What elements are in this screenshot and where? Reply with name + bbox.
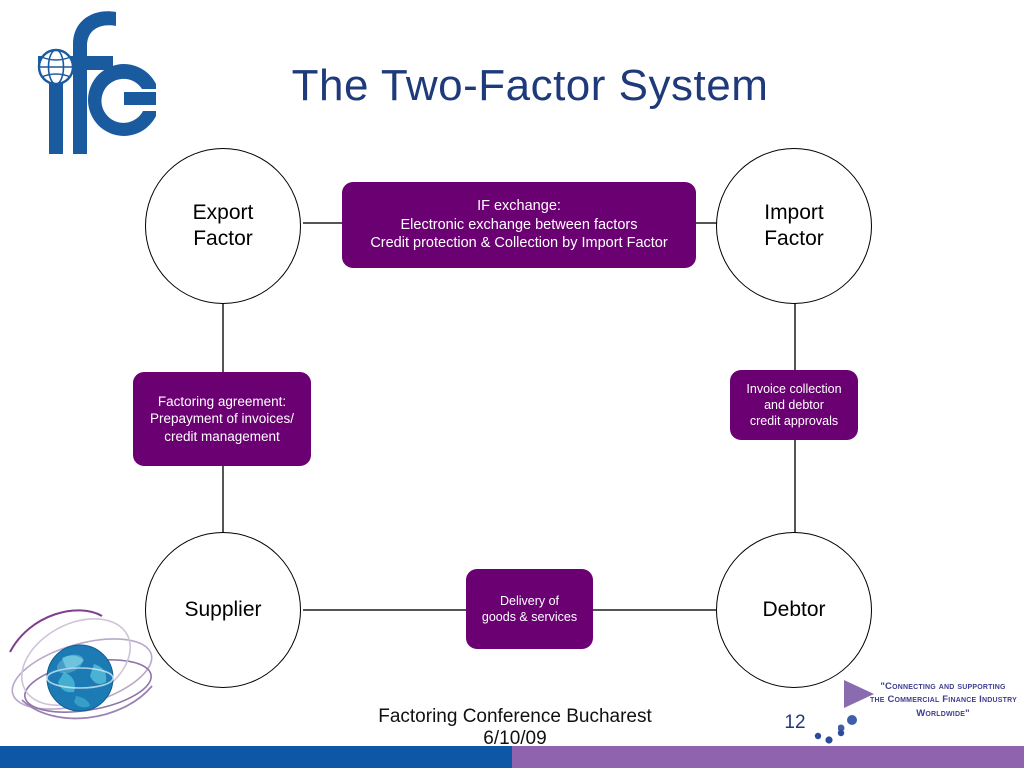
connector-import-to-invoice	[794, 300, 796, 370]
box-factoring-agreement-line1: Factoring agreement:	[150, 393, 294, 410]
presentation-slide: The Two-Factor System Export Factor Impo…	[0, 0, 1024, 768]
box-invoice-collection-line2: and debtor	[746, 397, 841, 413]
footer-line-1: Factoring Conference Bucharest	[300, 706, 730, 728]
connector-export-to-ifexchange	[303, 222, 345, 224]
box-delivery-line1: Delivery of	[482, 593, 577, 609]
footer: Factoring Conference Bucharest 6/10/09	[300, 706, 730, 751]
page-title: The Two-Factor System	[180, 62, 880, 110]
box-factoring-agreement-line2: Prepayment of invoices/	[150, 410, 294, 427]
node-export-factor[interactable]: Export Factor	[145, 148, 301, 304]
connector-delivery-to-debtor	[592, 609, 716, 611]
node-import-factor[interactable]: Import Factor	[716, 148, 872, 304]
box-invoice-collection[interactable]: Invoice collection and debtor credit app…	[730, 370, 858, 440]
box-delivery-line2: goods & services	[482, 609, 577, 625]
box-invoice-collection-line3: credit approvals	[746, 413, 841, 429]
box-if-exchange-line1: IF exchange:	[370, 197, 667, 216]
box-invoice-collection-line1: Invoice collection	[746, 381, 841, 397]
footer-line-2: 6/10/09	[300, 728, 730, 750]
box-if-exchange[interactable]: IF exchange: Electronic exchange between…	[342, 182, 696, 268]
node-export-factor-line2: Factor	[193, 226, 254, 252]
connector-ifexchange-to-import	[696, 222, 718, 224]
connector-invoice-to-debtor	[794, 440, 796, 540]
node-debtor-line1: Debtor	[762, 597, 825, 623]
box-if-exchange-line3: Credit protection & Collection by Import…	[370, 234, 667, 253]
dot-decoration	[812, 722, 848, 746]
box-delivery[interactable]: Delivery of goods & services	[466, 569, 593, 649]
box-if-exchange-line2: Electronic exchange between factors	[370, 216, 667, 235]
node-import-factor-line1: Import	[764, 200, 824, 226]
node-supplier-line1: Supplier	[184, 597, 261, 623]
connector-supplier-to-delivery	[303, 609, 469, 611]
node-import-factor-line2: Factor	[764, 226, 824, 252]
box-factoring-agreement-line3: credit management	[150, 428, 294, 445]
connector-export-to-agreement	[222, 300, 224, 372]
box-factoring-agreement[interactable]: Factoring agreement: Prepayment of invoi…	[133, 372, 311, 466]
node-export-factor-line1: Export	[193, 200, 254, 226]
node-supplier[interactable]: Supplier	[145, 532, 301, 688]
node-debtor[interactable]: Debtor	[716, 532, 872, 688]
tagline-logo	[838, 676, 1014, 738]
ifg-logo	[16, 4, 156, 154]
connector-agreement-to-supplier	[222, 466, 224, 540]
